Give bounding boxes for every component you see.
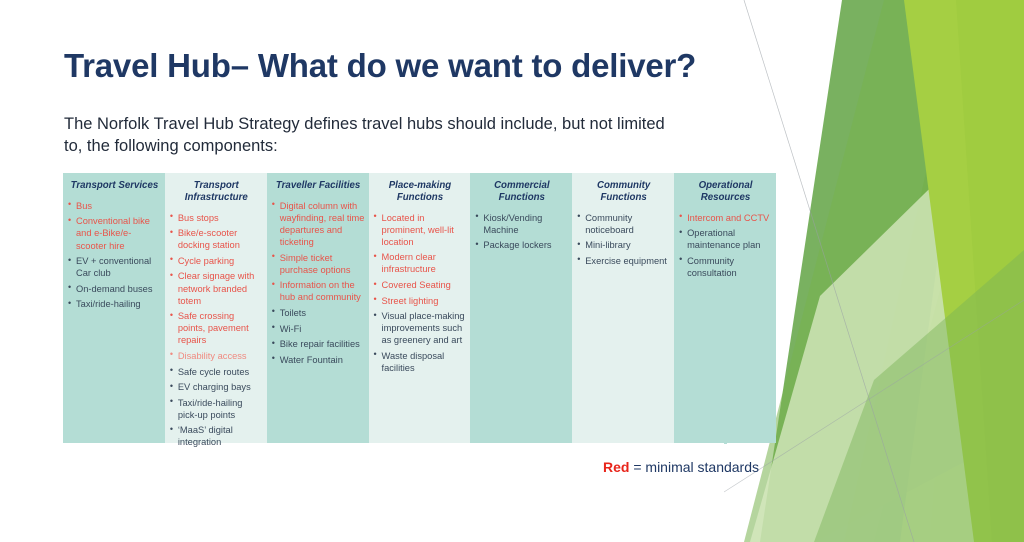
list-item: Digital column with wayfinding, real tim… xyxy=(272,200,365,248)
list-item: Kiosk/Vending Machine xyxy=(475,212,568,236)
column-header: Commercial Functions xyxy=(475,180,568,204)
column-item-list: Kiosk/Vending MachinePackage lockers xyxy=(475,212,568,252)
table-column: Operational ResourcesIntercom and CCTVOp… xyxy=(674,173,776,443)
list-item: Bike/e-scooter docking station xyxy=(170,227,263,251)
list-item: Disability access xyxy=(170,350,263,362)
table-column: Transport ServicesBusConventional bike a… xyxy=(63,173,165,443)
column-item-list: Bus stopsBike/e-scooter docking stationC… xyxy=(170,212,263,449)
list-item: EV + conventional Car club xyxy=(68,255,161,279)
column-item-list: BusConventional bike and e-Bike/e-scoote… xyxy=(68,200,161,311)
column-item-list: Digital column with wayfinding, real tim… xyxy=(272,200,365,366)
table-column: Transport InfrastructureBus stopsBike/e-… xyxy=(165,173,267,443)
components-table: Transport ServicesBusConventional bike a… xyxy=(63,173,776,443)
list-item: Exercise equipment xyxy=(577,255,670,267)
page-title: Travel Hub– What do we want to deliver? xyxy=(64,48,754,84)
column-header: Transport Services xyxy=(68,180,161,192)
table-column: Community FunctionsCommunity noticeboard… xyxy=(572,173,674,443)
column-header: Transport Infrastructure xyxy=(170,180,263,204)
list-item: Waste disposal facilities xyxy=(374,350,467,374)
list-item: Conventional bike and e-Bike/e-scooter h… xyxy=(68,215,161,251)
list-item: Operational maintenance plan xyxy=(679,227,772,251)
list-item: Safe cycle routes xyxy=(170,366,263,378)
column-header: Operational Resources xyxy=(679,180,772,204)
list-item: Located in prominent, well-lit location xyxy=(374,212,467,248)
column-item-list: Located in prominent, well-lit locationM… xyxy=(374,212,467,374)
list-item: Bike repair facilities xyxy=(272,338,365,350)
list-item: Visual place-making improvements such as… xyxy=(374,310,467,346)
list-item: Package lockers xyxy=(475,239,568,251)
list-item: Bus stops xyxy=(170,212,263,224)
legend-key: Red xyxy=(603,459,629,475)
legend: Red = minimal standards xyxy=(603,459,759,475)
list-item: Taxi/ride-hailing pick-up points xyxy=(170,397,263,421)
list-item: Safe crossing points, pavement repairs xyxy=(170,310,263,346)
legend-text: = minimal standards xyxy=(629,459,759,475)
list-item: Information on the hub and community xyxy=(272,279,365,303)
list-item: Taxi/ride-hailing xyxy=(68,298,161,310)
list-item: Wi-Fi xyxy=(272,323,365,335)
table-column: Place-making FunctionsLocated in promine… xyxy=(369,173,471,443)
list-item: Clear signage with network branded totem xyxy=(170,270,263,306)
list-item: EV charging bays xyxy=(170,381,263,393)
list-item: Cycle parking xyxy=(170,255,263,267)
list-item: Modern clear infrastructure xyxy=(374,251,467,275)
list-item: ‘MaaS’ digital integration xyxy=(170,424,263,448)
list-item: Intercom and CCTV xyxy=(679,212,772,224)
column-item-list: Intercom and CCTVOperational maintenance… xyxy=(679,212,772,279)
table-column: Commercial FunctionsKiosk/Vending Machin… xyxy=(470,173,572,443)
list-item: Toilets xyxy=(272,307,365,319)
column-header: Traveller Facilities xyxy=(272,180,365,192)
list-item: Community noticeboard xyxy=(577,212,670,236)
intro-paragraph: The Norfolk Travel Hub Strategy defines … xyxy=(64,114,674,158)
column-header: Place-making Functions xyxy=(374,180,467,204)
list-item: Street lighting xyxy=(374,295,467,307)
list-item: Community consultation xyxy=(679,255,772,279)
list-item: On-demand buses xyxy=(68,283,161,295)
column-item-list: Community noticeboardMini-libraryExercis… xyxy=(577,212,670,267)
table-column: Traveller FacilitiesDigital column with … xyxy=(267,173,369,443)
list-item: Water Fountain xyxy=(272,354,365,366)
list-item: Covered Seating xyxy=(374,279,467,291)
list-item: Simple ticket purchase options xyxy=(272,252,365,276)
column-header: Community Functions xyxy=(577,180,670,204)
list-item: Bus xyxy=(68,200,161,212)
list-item: Mini-library xyxy=(577,239,670,251)
